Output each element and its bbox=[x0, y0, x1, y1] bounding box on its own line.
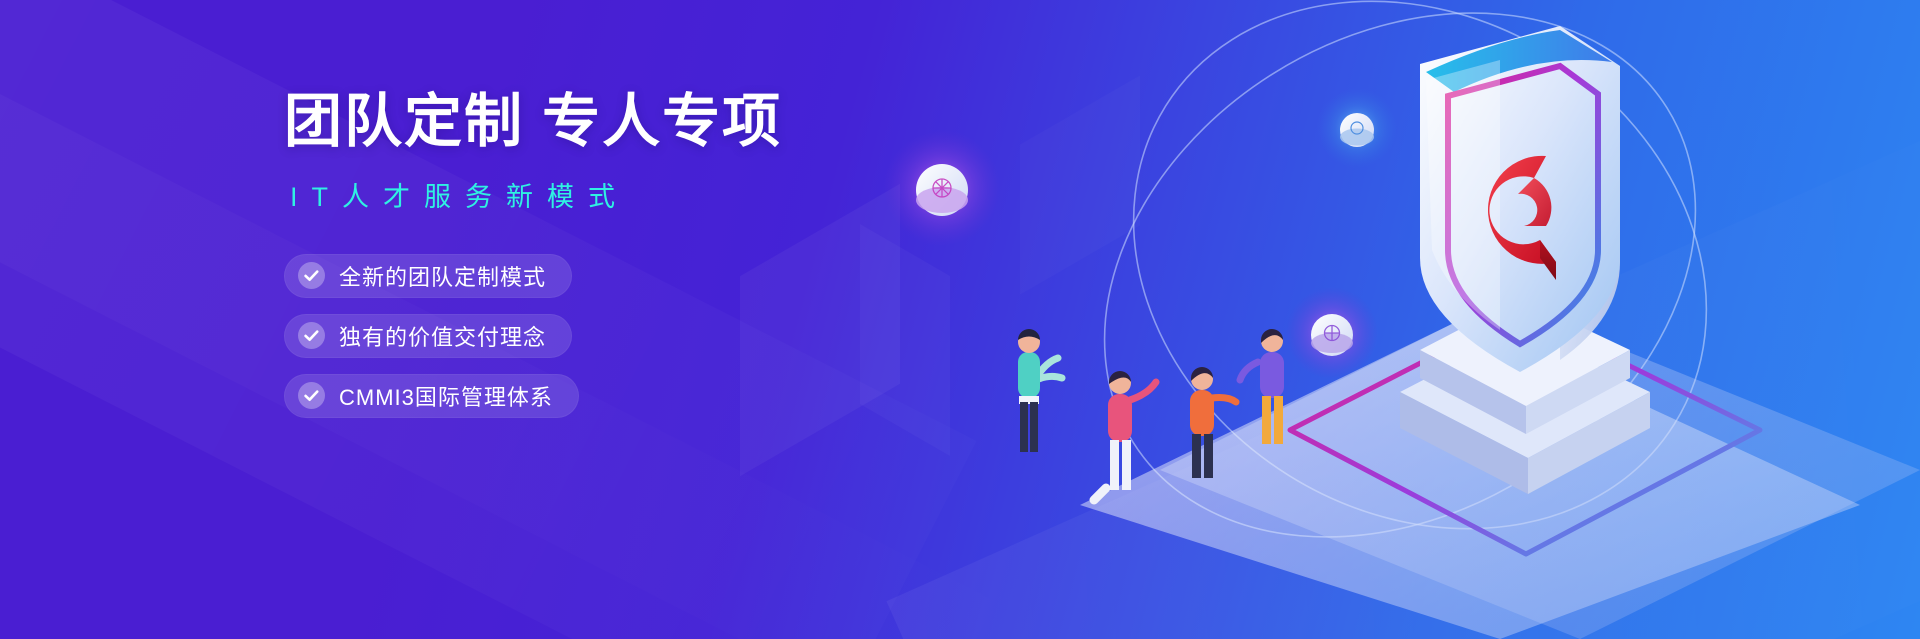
isometric-security-shield-scene bbox=[860, 0, 1920, 639]
glow-node-lower-right bbox=[1286, 287, 1378, 379]
check-icon bbox=[298, 382, 325, 409]
feature-pill[interactable]: 全新的团队定制模式 bbox=[284, 254, 572, 298]
check-icon bbox=[298, 262, 325, 289]
feature-pill-label: 独有的价值交付理念 bbox=[339, 320, 546, 352]
feature-pill-label: CMMI3国际管理体系 bbox=[339, 380, 553, 412]
check-icon bbox=[298, 322, 325, 349]
feature-pill[interactable]: CMMI3国际管理体系 bbox=[284, 374, 579, 418]
person-figure-1 bbox=[1018, 329, 1062, 452]
feature-pill-label: 全新的团队定制模式 bbox=[339, 260, 546, 292]
glow-node-left bbox=[884, 130, 1000, 246]
feature-pill[interactable]: 独有的价值交付理念 bbox=[284, 314, 572, 358]
hero-banner: 团队定制 专人专项 IT人才服务新模式 全新的团队定制模式 独有的价值交付理念 bbox=[0, 0, 1920, 639]
glow-node-right bbox=[1317, 88, 1397, 168]
